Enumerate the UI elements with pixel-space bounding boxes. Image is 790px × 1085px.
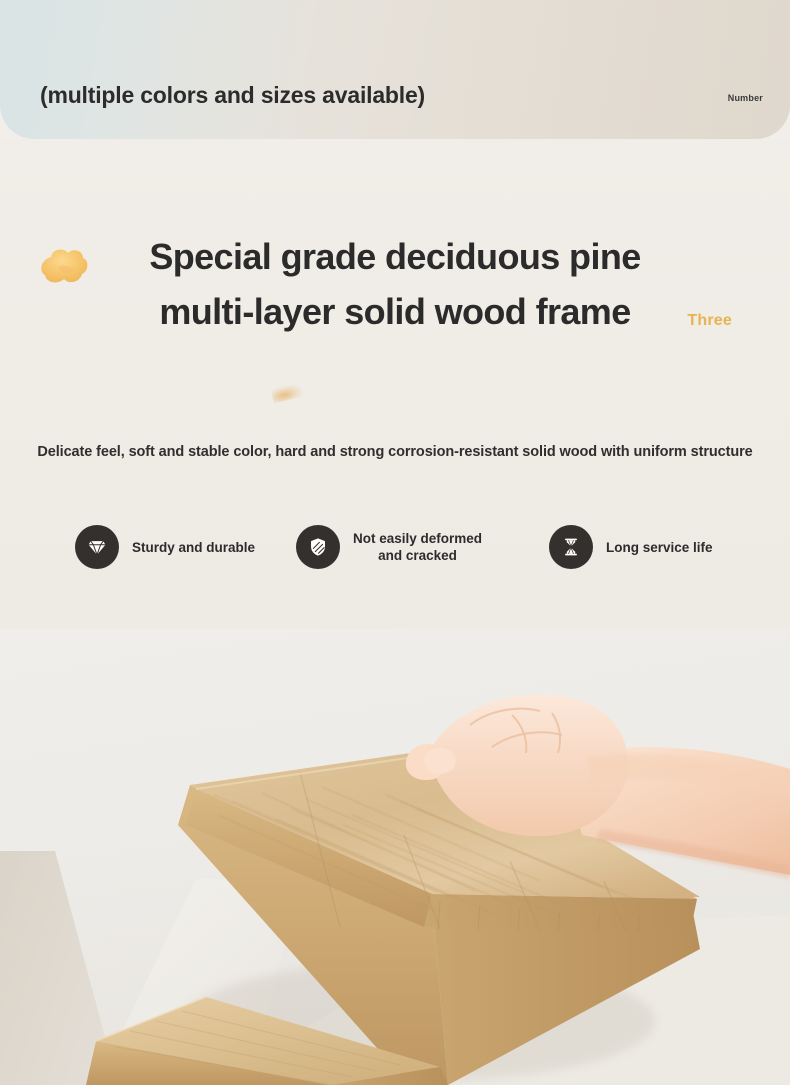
content-section: Special grade deciduous pine multi-layer… [0,139,790,629]
feature-row: Sturdy and durable Not easily deformed a… [0,517,790,577]
diamond-icon [75,525,119,569]
banner-title: (multiple colors and sizes available) [40,82,425,109]
product-photo [0,629,790,1085]
hero-heading: Special grade deciduous pine multi-layer… [0,229,790,339]
hourglass-icon [549,525,593,569]
feature-label-sturdy: Sturdy and durable [132,539,255,556]
hero-subtitle: Delicate feel, soft and stable color, ha… [0,444,790,460]
feature-label-deformed-line1: Not easily deformed [353,530,482,547]
feature-item-sturdy: Sturdy and durable [75,517,255,577]
feature-item-lifespan: Long service life [549,517,713,577]
feature-label-deformed-line2: and cracked [353,547,482,564]
feature-label-lifespan: Long service life [606,539,713,556]
heading-line-1: Special grade deciduous pine [0,229,790,284]
top-banner: (multiple colors and sizes available) Nu… [0,0,790,139]
decorative-speck [271,383,303,404]
feature-label-deformed: Not easily deformed and cracked [353,530,482,564]
heading-line-2: multi-layer solid wood frame [0,284,790,339]
banner-number-label: Number [728,93,763,103]
shield-icon [296,525,340,569]
feature-item-deformed: Not easily deformed and cracked [296,517,482,577]
badge-three: Three [687,312,732,330]
